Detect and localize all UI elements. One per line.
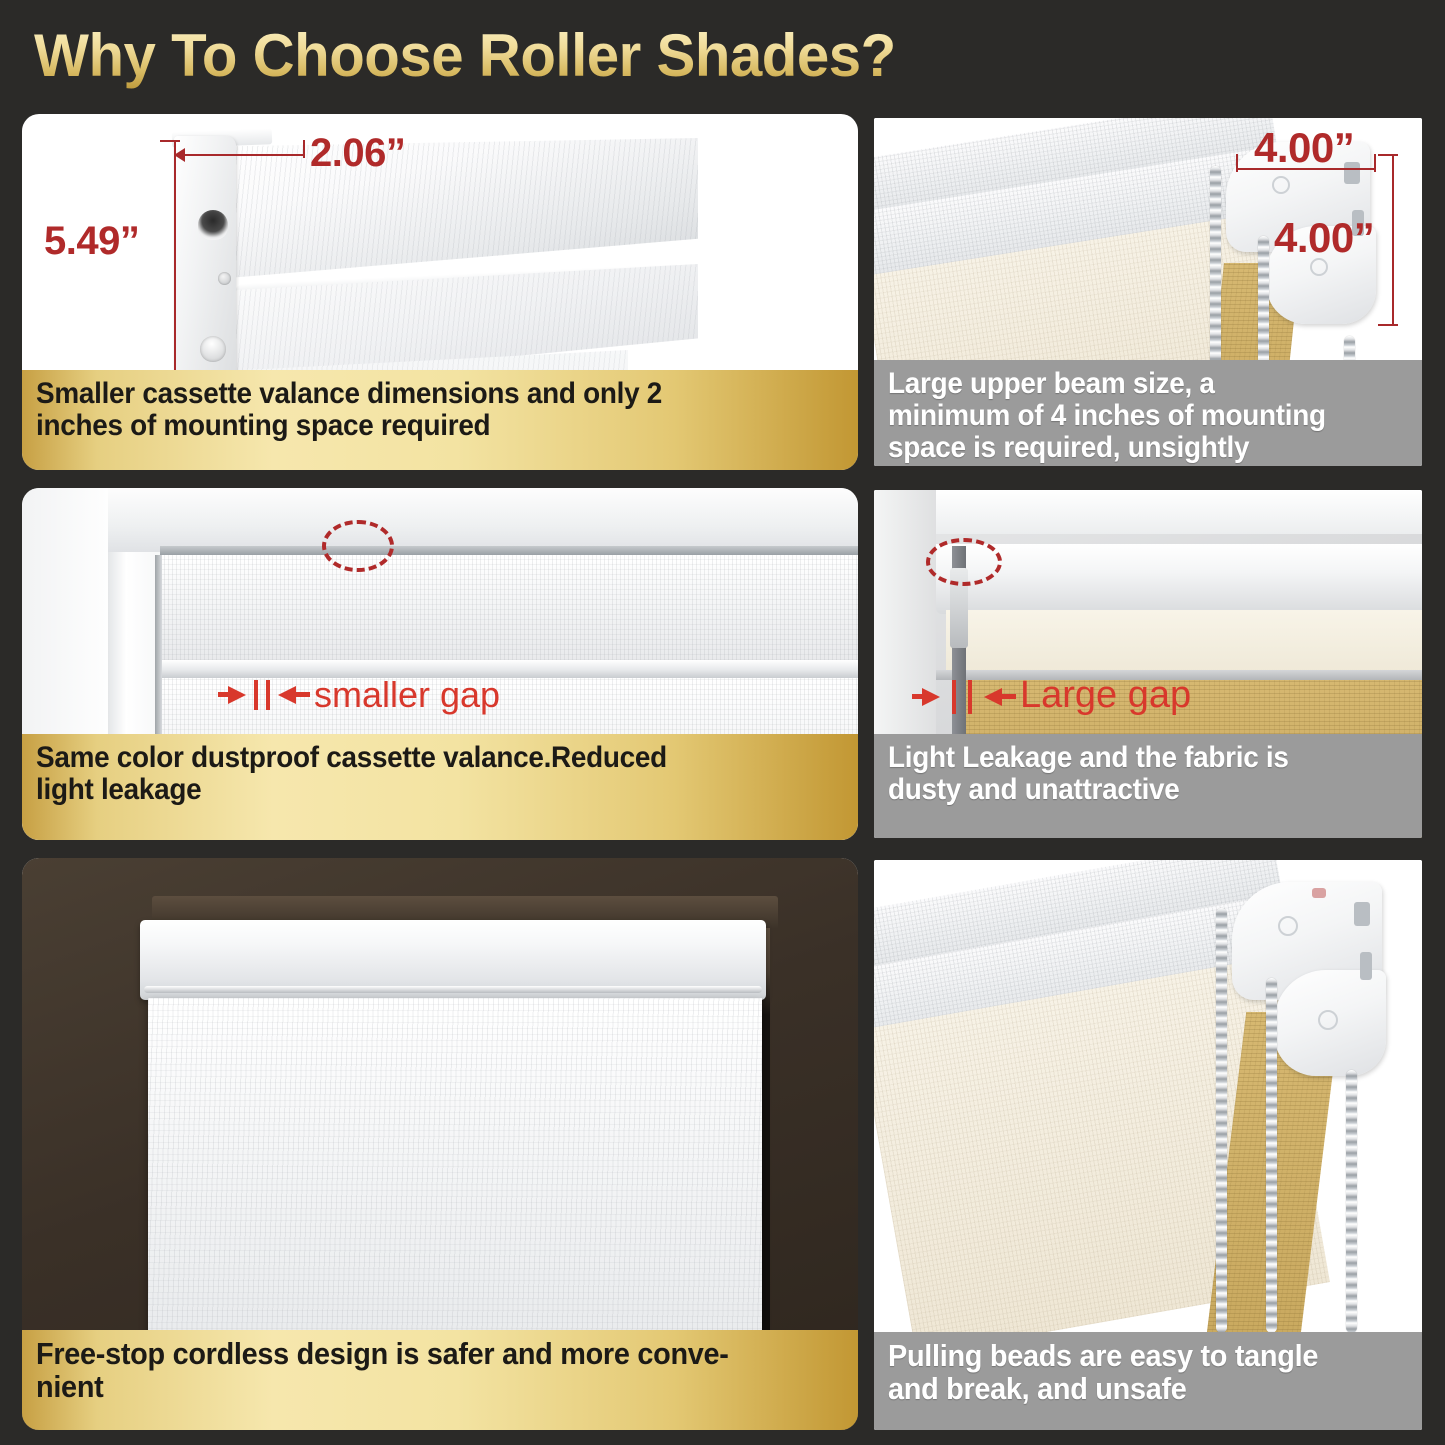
bracket-mount-slot-2	[1360, 952, 1372, 980]
page-title: Why To Choose Roller Shades?	[34, 20, 1004, 92]
gap-marker-bar-2	[266, 680, 270, 710]
bracket-screw	[218, 272, 231, 285]
bracket-mount-slot-1	[1354, 902, 1370, 926]
dim-5-49-cap-top	[160, 140, 180, 142]
gap-label-smaller: smaller gap	[314, 674, 500, 716]
caption-line-2: light leakage	[36, 774, 787, 806]
dim-label-4-00-vertical: 4.00”	[1274, 214, 1374, 262]
caption-line-1: Same color dustproof cassette valance.Re…	[36, 742, 787, 774]
bracket-pin	[1312, 888, 1326, 898]
bead-chain-back	[1346, 1070, 1357, 1333]
shade-mid-rail	[155, 660, 858, 678]
gap-marker-bar-1	[952, 680, 956, 714]
bracket-knob	[200, 336, 226, 362]
caption-line-1: Pulling beads are easy to tangle	[888, 1340, 1372, 1373]
dim-label-5-49: 5.49”	[44, 219, 139, 264]
caption-line-1: Smaller cassette valance dimensions and …	[36, 378, 787, 410]
window-frame-top	[108, 488, 858, 552]
panel-dustproof-cassette: smaller gap Same color dustproof cassett…	[22, 488, 858, 840]
bracket-slot	[198, 210, 228, 240]
caption-pulling-beads: Pulling beads are easy to tangle and bre…	[874, 1332, 1422, 1430]
shade-upper-panel	[160, 555, 858, 660]
dim-label-2-06: 2.06”	[310, 131, 405, 176]
dim-4-00-v-cap-top	[1378, 154, 1398, 156]
caption-line-1: Free-stop cordless design is safer and m…	[36, 1338, 787, 1371]
highlight-circle-icon	[926, 538, 1002, 586]
gap-marker-bar-2	[968, 680, 972, 714]
dim-label-4-00-horizontal: 4.00”	[1254, 124, 1354, 172]
bead-chain-front	[1216, 908, 1227, 1333]
infographic-page: Why To Choose Roller Shades? 2.06” 5.49”	[0, 0, 1445, 1445]
caption-cassette-dimensions: Smaller cassette valance dimensions and …	[22, 370, 858, 470]
gap-label-large: Large gap	[1020, 674, 1191, 717]
panel-pulling-beads: Pulling beads are easy to tangle and bre…	[874, 860, 1422, 1430]
panel-free-stop-cordless: Free-stop cordless design is safer and m…	[22, 858, 858, 1430]
panel-cassette-dimensions: 2.06” 5.49” Smaller cassette valance dim…	[22, 114, 858, 470]
caption-line-2: and break, and unsafe	[888, 1373, 1372, 1406]
upper-beam	[936, 544, 1422, 614]
caption-line-2: minimum of 4 inches of mounting	[888, 400, 1372, 432]
caption-line-2: nient	[36, 1371, 787, 1404]
caption-line-3: space is required, unsightly	[888, 432, 1372, 464]
highlight-circle-icon	[322, 520, 394, 572]
gap-arrow-left-tail	[912, 694, 926, 699]
dim-2-06-cap-right	[303, 140, 305, 158]
caption-line-1: Light Leakage and the fabric is	[888, 742, 1372, 774]
caption-free-stop-cordless: Free-stop cordless design is safer and m…	[22, 1330, 858, 1430]
gap-arrow-left-tail	[218, 692, 232, 697]
caption-line-1: Large upper beam size, a	[888, 368, 1372, 400]
valance-bottom-lip	[144, 986, 762, 993]
bracket-arrow-icon-1	[1272, 176, 1290, 194]
dim-4-00-h-cap-right	[1374, 154, 1376, 172]
panel-light-leakage: Large gap Light Leakage and the fabric i…	[874, 490, 1422, 838]
panel-large-upper-beam: 4.00” 4.00” Large upper beam size, a min…	[874, 118, 1422, 466]
gap-marker-bar-1	[254, 680, 258, 710]
gap-arrow-right-tail	[1000, 694, 1016, 699]
caption-light-leakage: Light Leakage and the fabric is dusty an…	[874, 734, 1422, 838]
dim-4-00-v-line	[1392, 154, 1394, 326]
dim-2-06-line	[174, 154, 304, 156]
valance-top-edge	[160, 546, 858, 555]
valance-beam-upper	[228, 138, 698, 278]
caption-dustproof-cassette: Same color dustproof cassette valance.Re…	[22, 734, 858, 840]
roller-shade-fabric	[148, 998, 762, 1353]
fabric-top-band	[946, 610, 1422, 672]
bracket-arrow-icon-1	[1278, 916, 1298, 936]
dim-4-00-h-cap-left	[1236, 154, 1238, 172]
bead-chain-middle	[1266, 978, 1277, 1333]
gap-arrow-right-tail	[294, 692, 310, 697]
caption-line-2: dusty and unattractive	[888, 774, 1372, 806]
dim-4-00-v-cap-bottom	[1378, 324, 1398, 326]
ceiling-strip	[874, 490, 1422, 534]
bracket-arrow-icon-2	[1318, 1010, 1338, 1030]
caption-large-upper-beam: Large upper beam size, a minimum of 4 in…	[874, 360, 1422, 466]
caption-line-2: inches of mounting space required	[36, 410, 787, 442]
